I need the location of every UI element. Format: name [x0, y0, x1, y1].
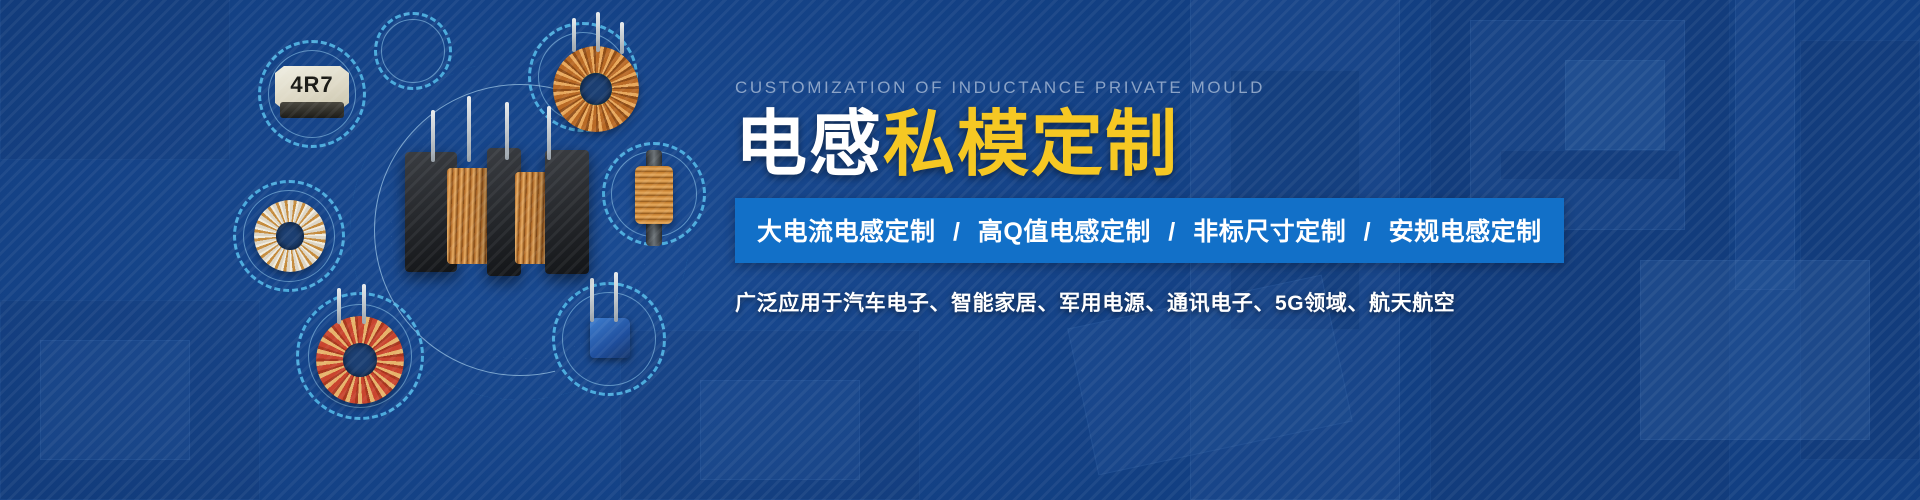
service-item-2[interactable]: 高Q值电感定制 — [978, 218, 1151, 246]
headline-yellow-part: 私模定制 — [883, 102, 1179, 186]
service-separator-1: / — [943, 218, 970, 246]
service-item-1[interactable]: 大电流电感定制 — [757, 218, 936, 246]
hero-banner: 4R7 — [0, 0, 1920, 500]
service-item-4[interactable]: 安规电感定制 — [1389, 218, 1542, 246]
cap-lead-wire — [614, 272, 618, 322]
green-toroid-lead-wire — [337, 288, 341, 324]
product-radial-lead-inductor — [582, 318, 636, 388]
services-bar: 大电流电感定制 / 高Q值电感定制 / 非标尺寸定制 / 安规电感定制 — [735, 198, 1564, 263]
product-rod-core-inductor — [629, 150, 679, 246]
service-separator-2: / — [1158, 218, 1185, 246]
service-separator-3: / — [1354, 218, 1381, 246]
product-green-toroid-inductor — [318, 318, 402, 402]
toroid-lead-wire — [572, 18, 576, 52]
green-toroid-lead-wire — [362, 284, 366, 324]
headline-white-part: 电感 — [735, 102, 883, 186]
page-title: 电感私模定制 — [735, 106, 1475, 184]
service-item-3[interactable]: 非标尺寸定制 — [1193, 218, 1346, 246]
english-subtitle: CUSTOMIZATION OF INDUCTANCE PRIVATE MOUL… — [735, 78, 1475, 98]
toroid-lead-wire — [620, 22, 624, 54]
product-smd-power-inductor: 4R7 — [275, 62, 349, 124]
cap-lead-wire — [590, 278, 594, 322]
smd-chip-marking: 4R7 — [275, 72, 349, 98]
application-tagline: 广泛应用于汽车电子、智能家居、军用电源、通讯电子、5G领域、航天航空 — [735, 287, 1475, 317]
product-ring-top-small — [374, 12, 452, 90]
toroid-lead-wire — [596, 12, 600, 52]
banner-text-block: CUSTOMIZATION OF INDUCTANCE PRIVATE MOUL… — [735, 78, 1475, 317]
product-common-mode-filter-block — [395, 110, 595, 280]
product-flat-wire-inductor — [256, 202, 324, 270]
